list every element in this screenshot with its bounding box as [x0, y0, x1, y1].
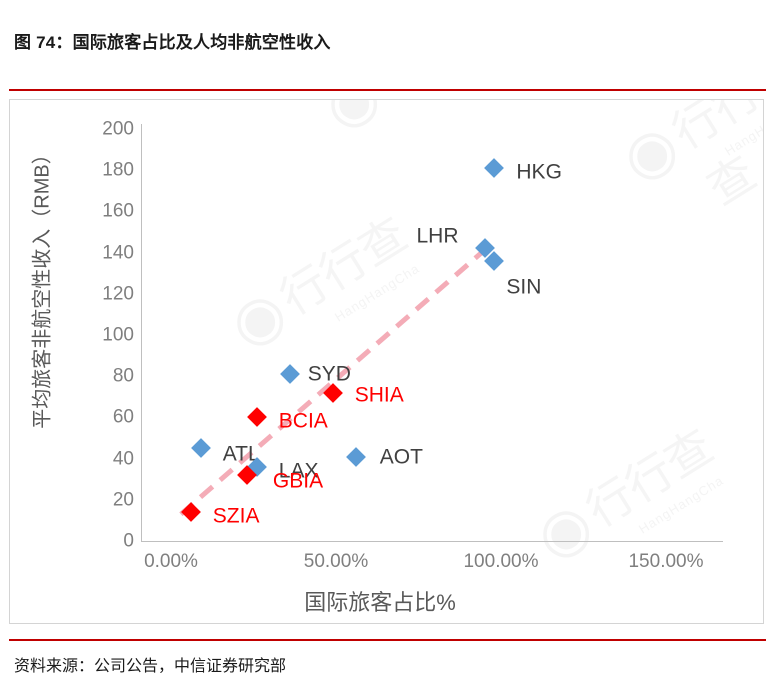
x-tick-label: 100.00% — [463, 552, 538, 571]
data-point-label-lhr: LHR — [417, 226, 459, 247]
data-point-label-gbia: GBIA — [273, 471, 323, 492]
data-point-label-sin: SIN — [506, 276, 541, 297]
data-point-bcia[interactable] — [247, 407, 267, 427]
y-tick-label: 140 — [74, 243, 134, 262]
y-tick-label: 0 — [74, 532, 134, 551]
data-point-label-syd: SYD — [308, 364, 351, 385]
x-axis-title: 国际旅客占比% — [10, 585, 750, 617]
divider-bottom — [9, 639, 766, 641]
data-point-syd[interactable] — [280, 364, 300, 384]
x-tick-label: 50.00% — [304, 552, 368, 571]
chart-container: ◉ 行行查 HangHangCha ◉ 行行查 HangHangCha ◉ 行行… — [9, 99, 764, 624]
watermark-brand-en: HangHangCha — [722, 99, 764, 159]
y-axis-title-text: 平均旅客非航空性收入（RMB） — [32, 144, 54, 428]
x-axis-ticks: 0.00%50.00%100.00%150.00% — [10, 552, 764, 578]
y-axis-ticks: 020406080100120140160180200 — [68, 100, 134, 624]
data-point-label-aot: AOT — [380, 446, 423, 467]
data-point-label-shia: SHIA — [355, 384, 404, 405]
y-axis-title: 平均旅客非航空性收入（RMB） — [26, 99, 55, 487]
data-point-atl[interactable] — [191, 438, 211, 458]
data-point-label-bcia: BCIA — [279, 411, 328, 432]
data-point-label-szia: SZIA — [213, 506, 260, 527]
data-point-hkg[interactable] — [484, 158, 504, 178]
source-note: 资料来源：公司公告，中信证券研究部 — [14, 652, 286, 676]
y-tick-label: 120 — [74, 284, 134, 303]
y-tick-label: 160 — [74, 202, 134, 221]
y-tick-label: 40 — [74, 449, 134, 468]
data-point-shia[interactable] — [323, 383, 343, 403]
y-tick-label: 60 — [74, 408, 134, 427]
data-point-szia[interactable] — [181, 502, 201, 522]
divider-top — [9, 89, 766, 91]
y-tick-label: 100 — [74, 326, 134, 345]
y-tick-label: 180 — [74, 161, 134, 180]
page-title: 图 74：国际旅客占比及人均非航空性收入 — [14, 28, 331, 53]
data-point-label-hkg: HKG — [516, 162, 562, 183]
y-tick-label: 20 — [74, 490, 134, 509]
y-tick-label: 200 — [74, 120, 134, 139]
plot-area: HKGSINLHRSYDATLLAXAOTSHIABCIAGBIASZIA — [141, 122, 721, 542]
x-tick-label: 0.00% — [144, 552, 198, 571]
x-tick-label: 150.00% — [628, 552, 703, 571]
data-point-aot[interactable] — [346, 447, 366, 467]
y-tick-label: 80 — [74, 367, 134, 386]
